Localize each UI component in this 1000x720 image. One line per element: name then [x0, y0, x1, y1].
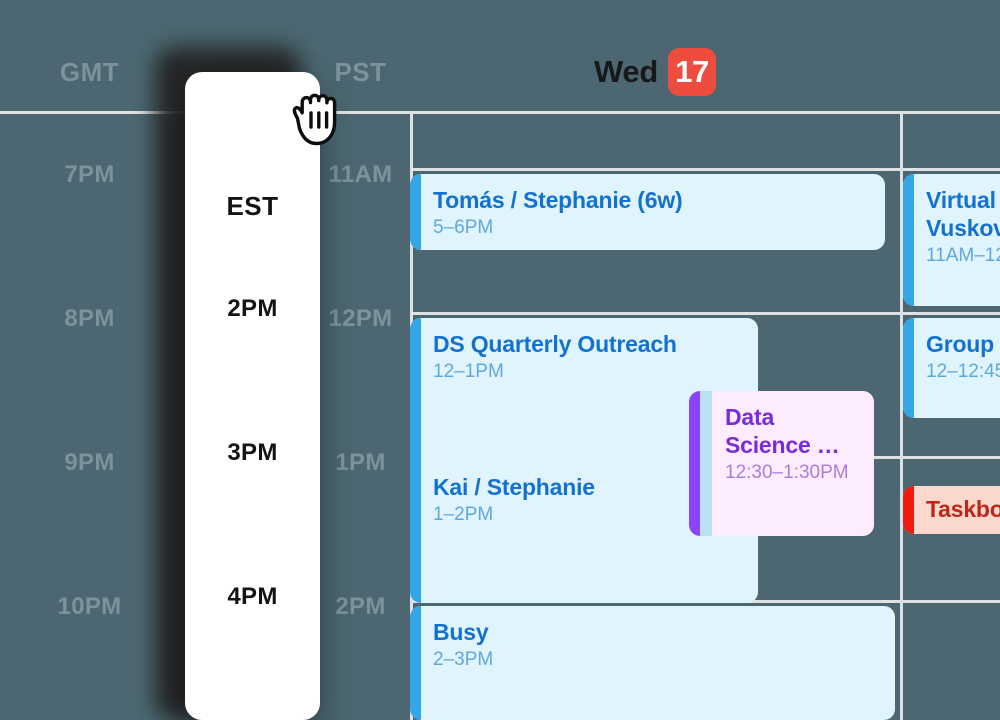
event-time: 12–1PM [433, 360, 748, 385]
time-tick-gmt-0: 7PM [22, 161, 157, 189]
event-time: 12:30–1:30PM [725, 461, 864, 486]
event-time: 2–3PM [433, 648, 885, 673]
timezone-label-gmt[interactable]: GMT [22, 57, 157, 88]
time-tick-gmt-3: 10PM [22, 593, 157, 621]
event-title: DS Quarterly Outreach [433, 330, 748, 358]
event-card[interactable]: Data Science … 12:30–1:30PM [689, 391, 874, 536]
event-time: 5–6PM [433, 216, 875, 241]
time-tick-gmt-1: 8PM [22, 305, 157, 333]
day-number-badge: 17 [668, 48, 716, 96]
timezone-label-est[interactable]: EST [185, 191, 320, 222]
time-tick-est-1: 3PM [185, 439, 320, 467]
event-card[interactable]: Group 12–12:45 [903, 318, 1000, 418]
date-header: Wed 17 [410, 44, 900, 100]
gridline-horizontal [0, 111, 1000, 114]
event-title: Busy [433, 618, 885, 646]
event-card[interactable]: Taskbo [903, 486, 1000, 534]
event-title: Tomás / Stephanie (6w) [433, 186, 875, 214]
event-time: 12–12:45 [926, 360, 1000, 385]
time-tick-est-0: 2PM [185, 295, 320, 323]
weekday-label: Wed [594, 54, 658, 90]
event-card[interactable]: Virtual Vuskov 11AM–12 [903, 174, 1000, 306]
event-title: Taskbo [926, 495, 1000, 523]
gridline-horizontal [410, 312, 1000, 315]
event-title: Data Science … [725, 403, 864, 459]
gridline-horizontal [410, 168, 1000, 171]
event-card[interactable]: Busy 2–3PM [410, 606, 895, 720]
time-tick-gmt-2: 9PM [22, 449, 157, 477]
time-tick-est-2: 4PM [185, 583, 320, 611]
event-card[interactable]: Tomás / Stephanie (6w) 5–6PM [410, 174, 885, 250]
event-title: Group [926, 330, 1000, 358]
calendar-canvas: GMT 7PM 8PM 9PM 10PM PST 11AM 12PM 1PM 2… [0, 0, 1000, 720]
event-title: Virtual Vuskov [926, 186, 1000, 242]
event-time: 11AM–12 [926, 244, 1000, 269]
timezone-column-est-dragging[interactable]: EST 2PM 3PM 4PM 5PM [185, 72, 320, 720]
